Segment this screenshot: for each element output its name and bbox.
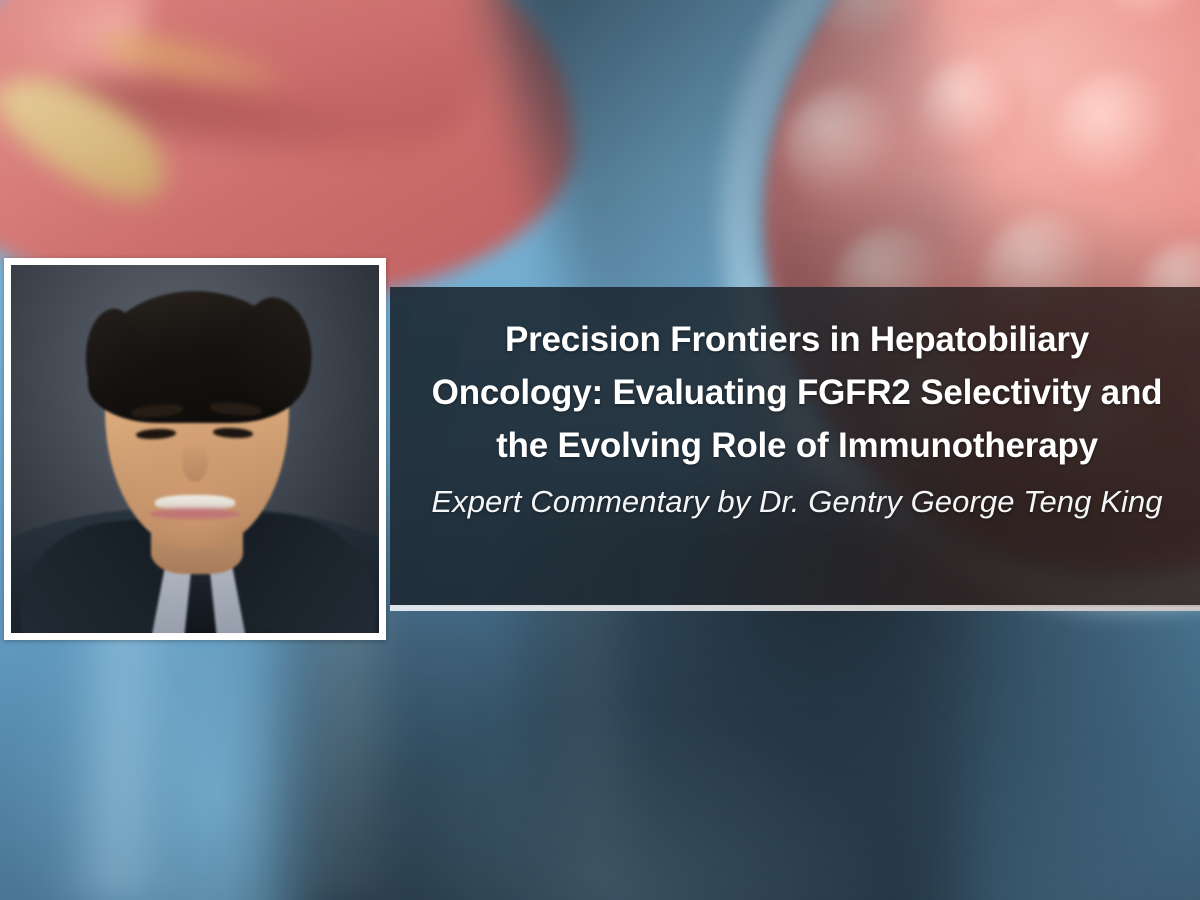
banner-subtitle: Expert Commentary by Dr. Gentry George T…	[412, 480, 1182, 524]
title-overlay-panel: Precision Frontiers in Hepatobiliary Onc…	[390, 287, 1200, 607]
panel-underline-accent	[390, 605, 1200, 611]
speaker-portrait-frame	[4, 258, 386, 640]
page-title: Precision Frontiers in Hepatobiliary Onc…	[416, 313, 1178, 472]
portrait-softening-layer	[11, 265, 379, 633]
speaker-portrait-photo	[11, 265, 379, 633]
banner-slide: Precision Frontiers in Hepatobiliary Onc…	[0, 0, 1200, 900]
